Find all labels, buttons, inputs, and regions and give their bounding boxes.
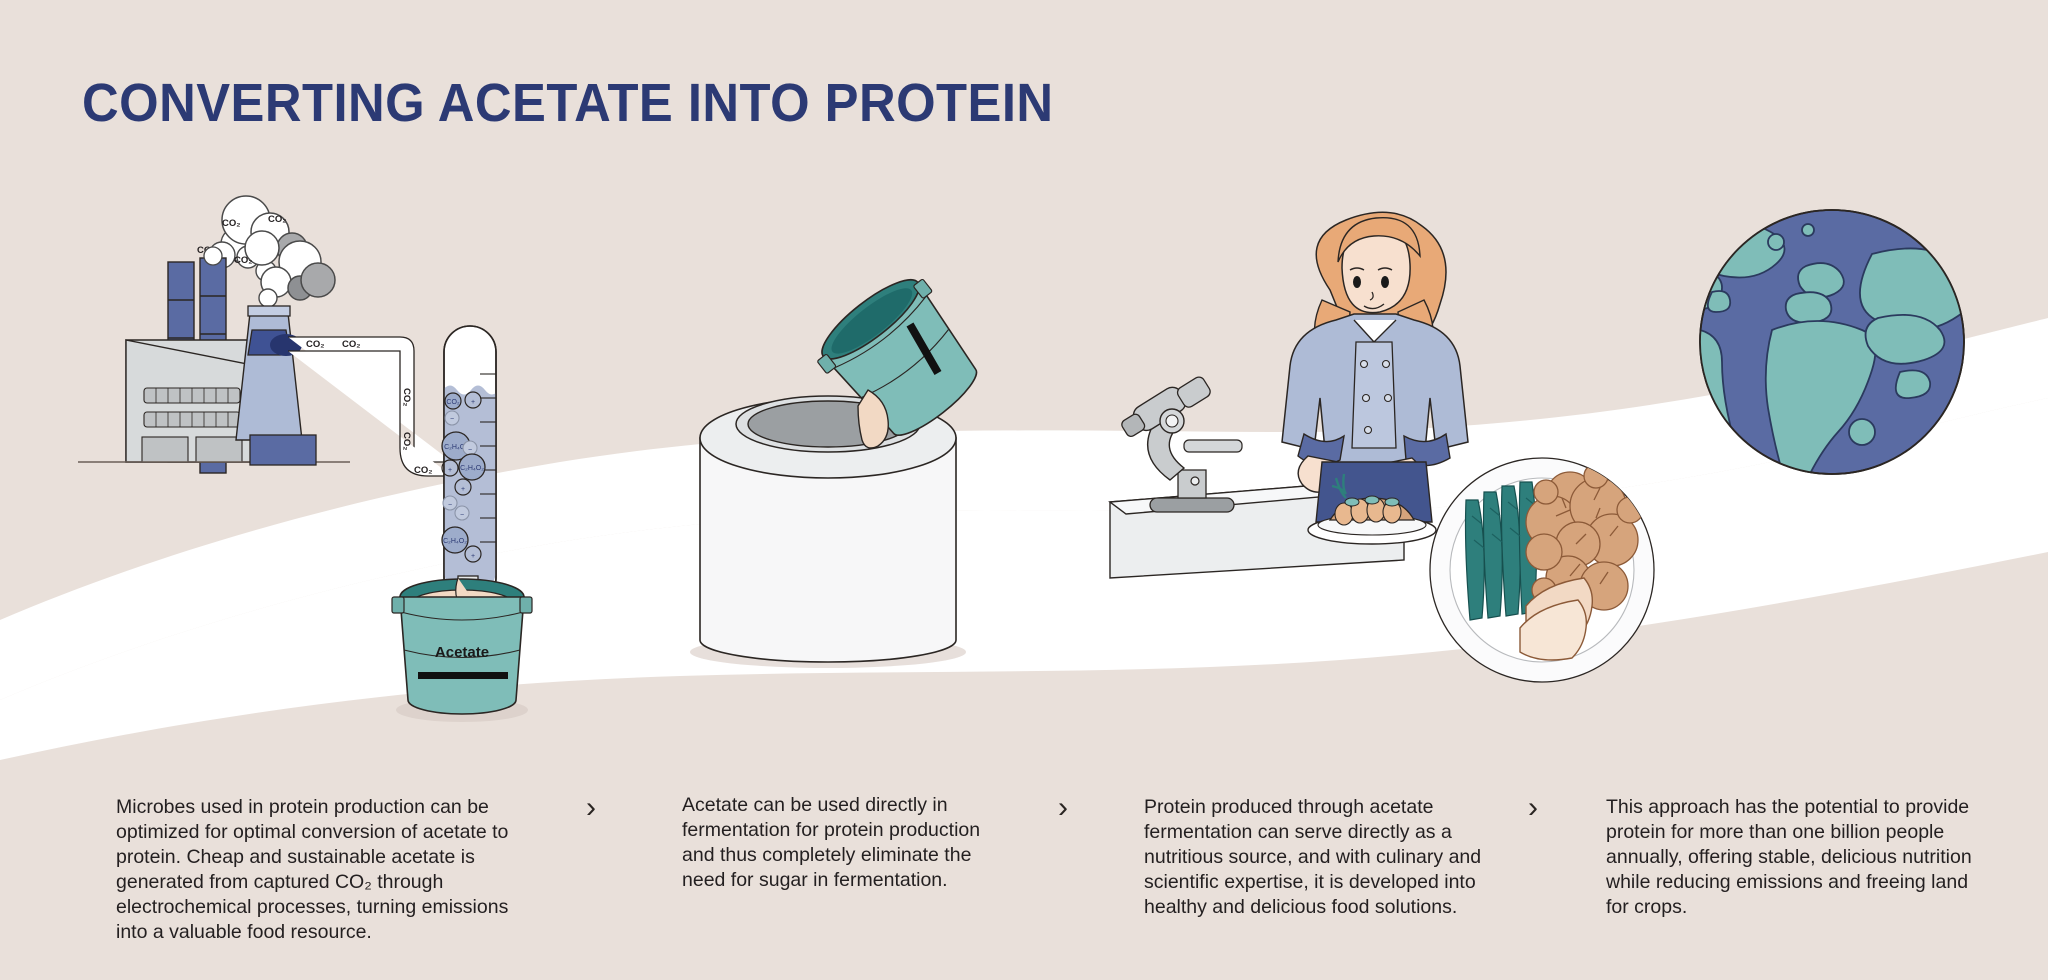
chevron-right-icon: ›	[586, 793, 596, 823]
fermentation-tank-illustration	[690, 265, 995, 668]
co2-label: CO₂	[234, 255, 252, 266]
molecule-label: C₂H₄O₂	[460, 465, 484, 472]
co2-label: CO₂	[401, 388, 412, 406]
minus-label: −	[460, 512, 464, 519]
co2-label: CO₂	[342, 339, 360, 350]
acetate-bucket-label: Acetate	[435, 644, 489, 661]
acetate-bucket: Acetate	[392, 578, 532, 722]
chef-eye	[1381, 276, 1389, 288]
plus-label: +	[471, 399, 475, 406]
co2-label: CO₂	[401, 432, 412, 450]
chef-character	[1282, 212, 1468, 522]
step-caption-3: Protein produced through acetate ferment…	[1144, 795, 1529, 920]
chef-eye	[1353, 276, 1361, 288]
minus-label: −	[448, 502, 452, 509]
minus-label: −	[468, 447, 472, 454]
co2-label: CO₂	[268, 214, 286, 225]
chevron-right-icon: ›	[1528, 793, 1538, 823]
infographic-canvas: CO₂ CO₂ CO₂ CO₂	[0, 0, 2048, 980]
page-title: CONVERTING ACETATE INTO PROTEIN	[82, 72, 1054, 134]
co2-label: CO₂	[306, 339, 324, 350]
chevron-right-icon: ›	[1058, 793, 1068, 823]
step-caption-2: Acetate can be used directly in fermenta…	[682, 793, 1002, 893]
step-caption-1: Microbes used in protein production can …	[116, 795, 516, 945]
plus-label: +	[461, 486, 465, 493]
factory-illustration: CO₂ CO₂ CO₂ CO₂	[78, 196, 532, 722]
food-plate-illustration	[1430, 458, 1654, 682]
co2-label: CO₂	[414, 465, 432, 476]
plus-label: +	[448, 467, 452, 474]
plus-label: +	[471, 553, 475, 560]
molecule-label: C₂H₄O₂	[443, 538, 467, 545]
chef-scene-illustration	[1110, 212, 1468, 578]
co2-bubble-label: CO₂	[446, 399, 460, 406]
globe-illustration	[1670, 201, 1976, 494]
step-caption-4: This approach has the potential to provi…	[1606, 795, 1976, 920]
co2-label: CO₂	[222, 218, 240, 229]
microscope	[1118, 370, 1242, 512]
minus-label: −	[450, 416, 454, 423]
electrochemical-reactor: CO₂ − + C₂H₄O₂ − C₂H₄O₂ + +	[442, 326, 499, 620]
